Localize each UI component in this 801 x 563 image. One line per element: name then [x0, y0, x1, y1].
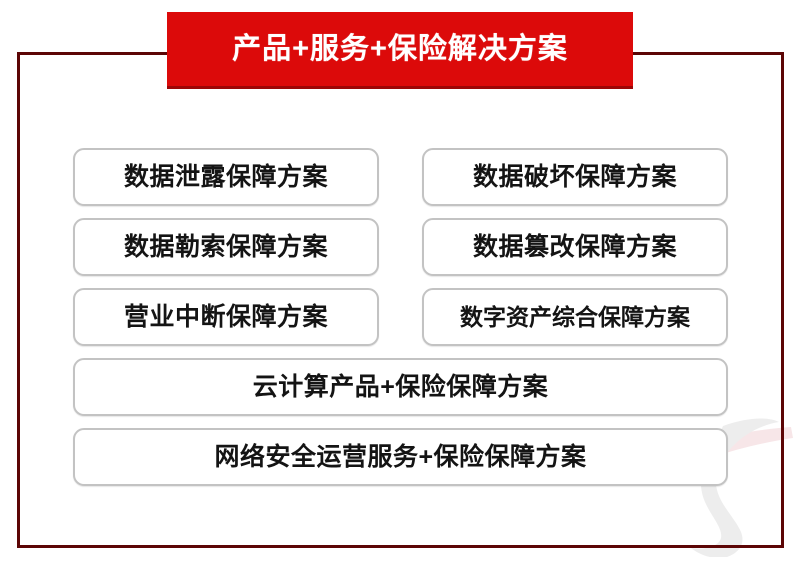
option-box-digital-asset[interactable]: 数字资产综合保障方案	[422, 288, 728, 346]
option-box-data-ransom[interactable]: 数据勒索保障方案	[73, 218, 379, 276]
option-row: 数据泄露保障方案 数据破坏保障方案	[73, 148, 728, 206]
page-title: 产品+服务+保险解决方案	[232, 35, 568, 64]
option-row: 网络安全运营服务+保险保障方案	[73, 428, 728, 486]
title-banner: 产品+服务+保险解决方案	[167, 12, 633, 89]
option-label: 营业中断保障方案	[124, 305, 328, 330]
option-label: 数据泄露保障方案	[124, 165, 328, 190]
option-label: 数字资产综合保障方案	[460, 306, 690, 329]
option-box-data-destruction[interactable]: 数据破坏保障方案	[422, 148, 728, 206]
option-label: 云计算产品+保险保障方案	[253, 375, 549, 400]
option-box-data-tampering[interactable]: 数据篡改保障方案	[422, 218, 728, 276]
option-box-security-operations[interactable]: 网络安全运营服务+保险保障方案	[73, 428, 728, 486]
option-row: 云计算产品+保险保障方案	[73, 358, 728, 416]
option-box-cloud-computing[interactable]: 云计算产品+保险保障方案	[73, 358, 728, 416]
solution-options-grid: 数据泄露保障方案 数据破坏保障方案 数据勒索保障方案 数据篡改保障方案 营业中断…	[73, 148, 728, 486]
option-box-data-leak[interactable]: 数据泄露保障方案	[73, 148, 379, 206]
option-label: 网络安全运营服务+保险保障方案	[214, 445, 586, 470]
option-row: 营业中断保障方案 数字资产综合保障方案	[73, 288, 728, 346]
option-label: 数据勒索保障方案	[124, 235, 328, 260]
option-row: 数据勒索保障方案 数据篡改保障方案	[73, 218, 728, 276]
poster-root: 产品+服务+保险解决方案 数据泄露保障方案 数据破坏保障方案 数据勒索保障方案 …	[0, 0, 801, 563]
option-box-business-interruption[interactable]: 营业中断保障方案	[73, 288, 379, 346]
option-label: 数据破坏保障方案	[473, 165, 677, 190]
option-label: 数据篡改保障方案	[473, 235, 677, 260]
